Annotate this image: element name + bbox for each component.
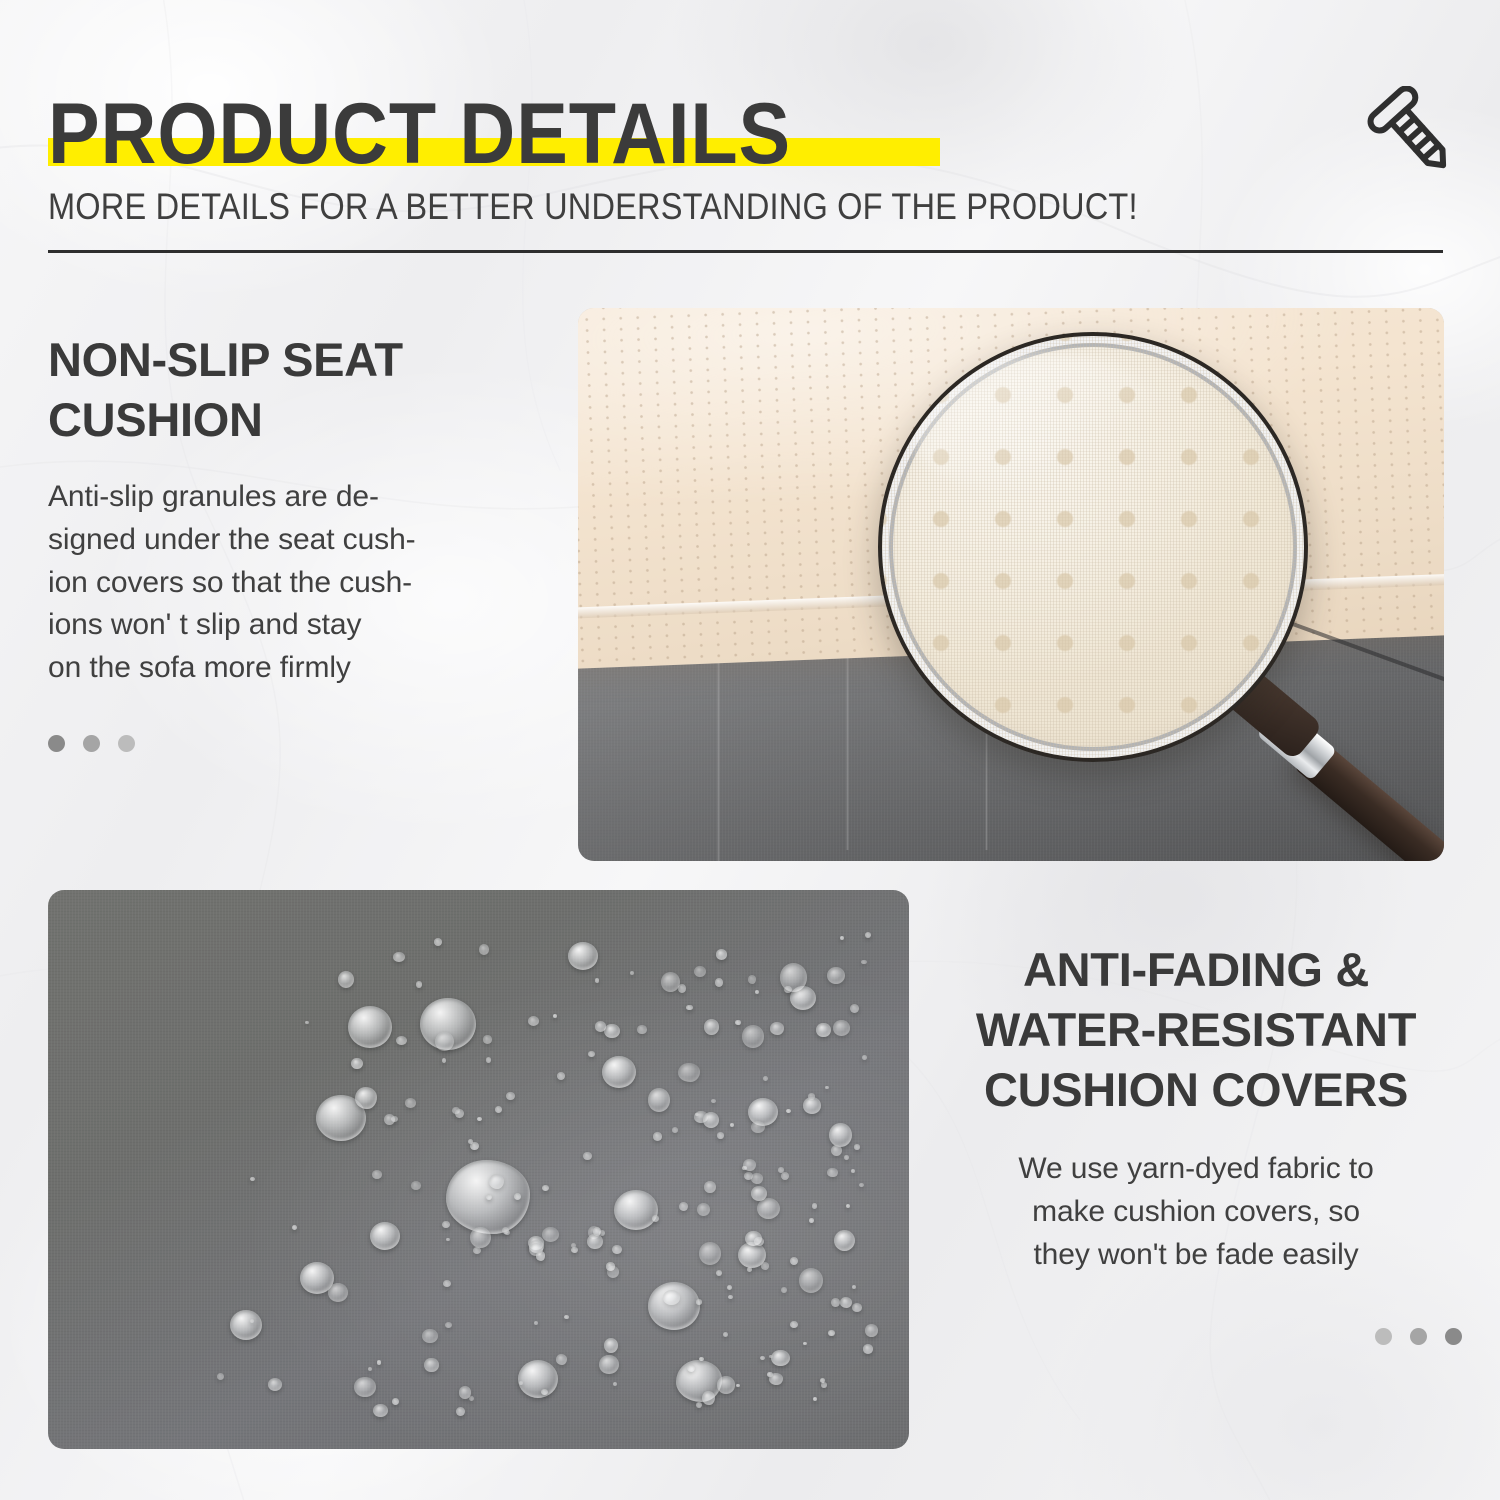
water-droplet [661, 972, 680, 992]
screw-icon [1367, 86, 1463, 182]
water-droplet [803, 1342, 807, 1346]
water-droplet [852, 1303, 862, 1312]
water-droplet [519, 1381, 523, 1385]
water-droplet [696, 1299, 702, 1305]
feature-heading: NON-SLIP SEAT CUSHION [48, 330, 518, 450]
water-droplet [588, 1051, 595, 1057]
feature-body: We use yarn-dyed fabric to make cushion … [930, 1148, 1462, 1276]
water-droplet [865, 1324, 879, 1337]
water-droplet [863, 1344, 874, 1354]
water-droplet [370, 1222, 400, 1250]
water-droplet [583, 1152, 592, 1160]
water-droplet [833, 1020, 850, 1036]
water-droplet [769, 1373, 783, 1385]
water-droplet [373, 1404, 388, 1417]
feature-heading-line: CUSHION COVERS [984, 1063, 1408, 1116]
water-droplet [613, 1382, 617, 1386]
water-droplet [434, 938, 442, 946]
water-droplet [384, 1114, 395, 1125]
water-droplet [862, 1055, 868, 1060]
feature-heading-line: WATER-RESISTANT [976, 1003, 1416, 1056]
water-droplet [761, 1262, 769, 1269]
water-droplet [506, 1092, 515, 1100]
feature-body-line: on the sofa more firmly [48, 651, 351, 684]
water-beading-photo [48, 890, 909, 1449]
water-droplet [416, 981, 423, 988]
page-title: PRODUCT DETAILS [48, 95, 791, 174]
water-droplet [717, 1132, 725, 1139]
water-droplet [424, 1358, 439, 1373]
dot [1410, 1328, 1427, 1345]
feature-body-line: make cushion covers, so [1032, 1195, 1360, 1228]
feature-body-line: Anti-slip granules are de- [48, 480, 379, 513]
pagination-dots [48, 735, 518, 752]
water-droplet [518, 1360, 558, 1398]
water-droplet [702, 1391, 715, 1405]
water-droplet [351, 1058, 363, 1069]
water-droplet [648, 1088, 670, 1112]
dot [1445, 1328, 1462, 1345]
water-droplet [653, 1132, 663, 1141]
water-droplet [704, 1019, 719, 1035]
feature-block-anti-fading-water-resistant: ANTI-FADING & WATER-RESISTANT CUSHION CO… [930, 940, 1462, 1345]
water-droplet [528, 1016, 539, 1026]
water-droplet [799, 1268, 823, 1293]
magnifier-lens [878, 332, 1308, 762]
water-droplet [854, 1144, 860, 1149]
water-droplet [699, 1242, 722, 1265]
water-droplet [445, 1322, 452, 1328]
water-droplet [687, 1364, 695, 1372]
water-droplet [411, 1181, 421, 1190]
dot [118, 735, 135, 752]
water-droplet [422, 1329, 438, 1344]
water-droplet [338, 971, 354, 988]
water-droplet [599, 1355, 619, 1374]
cushion-closeup-photo [578, 308, 1444, 861]
water-droplet [648, 1282, 700, 1330]
water-droplet [377, 1360, 382, 1365]
water-droplet [614, 1190, 658, 1230]
water-droplet [803, 1097, 821, 1114]
water-droplet [747, 1267, 752, 1272]
water-droplet [717, 1376, 736, 1394]
water-droplet [328, 1283, 348, 1302]
water-droplet [553, 1014, 557, 1018]
feature-block-non-slip-seat-cushion: NON-SLIP SEAT CUSHION Anti-slip granules… [48, 330, 518, 752]
water-droplet [699, 1357, 704, 1362]
magnifying-glass [878, 332, 1308, 762]
water-droplet [268, 1378, 282, 1391]
header-divider [48, 250, 1443, 253]
water-droplet [748, 975, 757, 984]
water-droplet [456, 1407, 465, 1416]
water-droplet [716, 949, 728, 960]
water-droplet [715, 978, 723, 987]
dot [83, 735, 100, 752]
water-droplet [771, 1350, 790, 1367]
water-droplet [652, 1215, 659, 1222]
water-droplet [396, 1036, 407, 1045]
water-droplet [368, 1367, 373, 1371]
water-droplet [790, 1257, 798, 1265]
water-droplet [442, 1221, 450, 1228]
water-droplet [716, 1270, 722, 1276]
water-droplet [355, 1087, 377, 1109]
water-droplet [751, 1173, 763, 1184]
feature-body-line: ion covers so that the cush- [48, 566, 412, 599]
water-droplet [736, 1384, 740, 1388]
water-droplet [816, 1023, 831, 1038]
water-droplet [392, 1398, 399, 1405]
water-droplet [676, 1360, 722, 1402]
water-droplet [541, 1389, 548, 1395]
page-subtitle: MORE DETAILS FOR A BETTER UNDERSTANDING … [48, 186, 1138, 228]
water-droplet [446, 1238, 450, 1242]
feature-body: Anti-slip granules are de- signed under … [48, 476, 518, 689]
pagination-dots [930, 1328, 1462, 1345]
water-droplet [751, 1186, 767, 1201]
feature-body-line: they won't be fade easily [1033, 1238, 1358, 1271]
water-droplet [820, 1378, 825, 1383]
water-droplet [354, 1377, 376, 1398]
water-droplet [728, 1295, 733, 1299]
water-droplet [827, 967, 845, 984]
dot [48, 735, 65, 752]
water-droplet [536, 1251, 546, 1261]
water-droplet [292, 1225, 297, 1230]
water-droplet [372, 1170, 382, 1179]
water-droplet [637, 1025, 646, 1034]
water-droplet [534, 1321, 538, 1325]
water-droplet [846, 1204, 850, 1208]
water-droplet [663, 1290, 679, 1305]
water-droplet [595, 1021, 606, 1031]
water-droplet [780, 963, 807, 992]
water-droplet [630, 971, 634, 975]
feature-body-line: We use yarn-dyed fabric to [1018, 1152, 1373, 1185]
feature-body-line: signed under the seat cush- [48, 523, 416, 556]
water-droplet [745, 1231, 762, 1246]
water-droplet [459, 1386, 471, 1399]
dot [1375, 1328, 1392, 1345]
water-droplet [604, 1338, 618, 1353]
water-droplet [393, 952, 405, 962]
water-droplet [781, 1287, 787, 1293]
water-droplet [852, 1285, 856, 1289]
water-droplet [742, 1025, 764, 1047]
water-droplet [821, 1382, 827, 1387]
water-droplet [556, 1354, 567, 1365]
water-droplet [489, 1174, 504, 1189]
water-droplet [679, 1202, 688, 1211]
water-droplet [587, 1234, 603, 1250]
water-droplet [542, 1185, 549, 1192]
water-droplet [442, 1058, 446, 1062]
water-droplet [230, 1310, 262, 1340]
page-title-container: PRODUCT DETAILS [48, 78, 874, 174]
water-droplet [486, 1057, 491, 1062]
water-droplet [564, 1315, 568, 1319]
water-droplet [790, 1321, 798, 1328]
water-droplet [703, 1112, 719, 1128]
water-droplet [743, 1159, 756, 1171]
lens-glare [907, 353, 1169, 496]
water-droplet [348, 1006, 392, 1048]
water-droplet [828, 1330, 835, 1337]
water-droplet [217, 1373, 224, 1380]
water-droplet [606, 1262, 616, 1271]
feature-heading-line: ANTI-FADING & [1023, 943, 1369, 996]
water-droplet [678, 1063, 700, 1082]
water-droplet [568, 942, 598, 970]
water-droplet [602, 1056, 636, 1088]
water-droplet [770, 1022, 784, 1035]
feature-body-line: ions won' t slip and stay [48, 608, 361, 641]
feature-heading: ANTI-FADING & WATER-RESISTANT CUSHION CO… [930, 940, 1462, 1120]
water-droplet [760, 1356, 765, 1360]
water-droplet [483, 1035, 492, 1043]
water-droplet [686, 1005, 693, 1011]
water-droplet [504, 1230, 510, 1236]
water-droplet [557, 1072, 565, 1080]
water-droplet [834, 1230, 855, 1251]
water-droplet [840, 936, 844, 940]
water-droplet [672, 1127, 678, 1133]
